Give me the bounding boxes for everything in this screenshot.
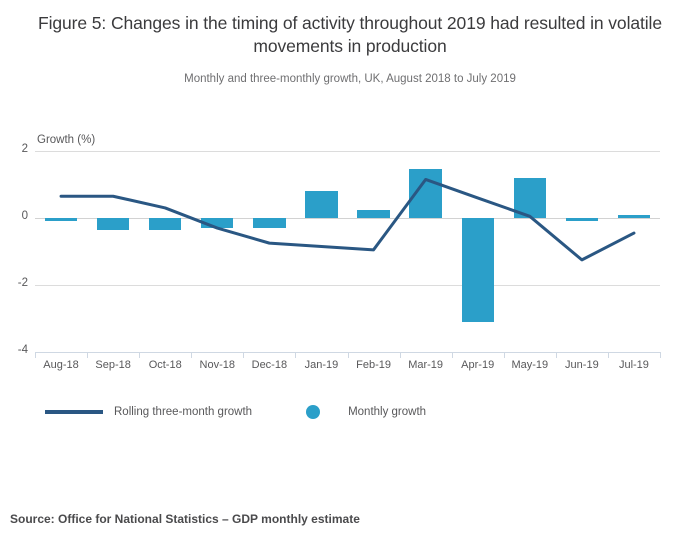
x-axis-tick-mark (608, 352, 609, 358)
legend-item-rolling-three-month-growth[interactable]: Rolling three-month growth (45, 406, 252, 418)
x-axis-tick-mark (243, 352, 244, 358)
y-axis-tick-label: 0 (2, 210, 28, 222)
y-axis-tick-label: -4 (2, 344, 28, 356)
x-axis-tick-mark (348, 352, 349, 358)
plot-area (35, 151, 660, 352)
y-axis-tick-label: 2 (2, 143, 28, 155)
x-axis-tick-label: Apr-19 (452, 359, 504, 371)
source-note: Source: Office for National Statistics –… (10, 512, 360, 526)
y-axis-tick-label: -2 (2, 277, 28, 289)
x-axis-tick-label: Jan-19 (295, 359, 347, 371)
x-axis-tick-mark (504, 352, 505, 358)
x-axis-tick-mark (556, 352, 557, 358)
x-axis-tick-label: Oct-18 (139, 359, 191, 371)
x-axis-tick-label: Nov-18 (191, 359, 243, 371)
legend-line-icon (45, 410, 103, 414)
figure-subtitle: Monthly and three-monthly growth, UK, Au… (28, 71, 672, 87)
x-axis-tick-label: May-19 (504, 359, 556, 371)
x-axis-tick-label: Jun-19 (556, 359, 608, 371)
x-axis-tick-label: Mar-19 (400, 359, 452, 371)
figure-header: Figure 5: Changes in the timing of activ… (0, 0, 700, 87)
x-axis-tick-label: Aug-18 (35, 359, 87, 371)
x-axis: Aug-18Sep-18Oct-18Nov-18Dec-18Jan-19Feb-… (35, 352, 660, 382)
legend-dot-icon (306, 405, 320, 419)
legend-item-monthly-growth[interactable]: Monthly growth (306, 405, 426, 419)
x-axis-tick-mark (87, 352, 88, 358)
x-axis-tick-mark (660, 352, 661, 358)
line-series-rolling-three-month-growth (35, 151, 660, 352)
x-axis-tick-mark (35, 352, 36, 358)
legend-label: Monthly growth (348, 406, 426, 418)
x-axis-tick-label: Feb-19 (348, 359, 400, 371)
legend-label: Rolling three-month growth (114, 406, 252, 418)
x-axis-tick-label: Dec-18 (243, 359, 295, 371)
chart-legend: Rolling three-month growth Monthly growt… (45, 405, 480, 419)
x-axis-tick-mark (452, 352, 453, 358)
x-axis-tick-mark (295, 352, 296, 358)
x-axis-tick-label: Sep-18 (87, 359, 139, 371)
x-axis-tick-mark (139, 352, 140, 358)
chart-container: Growth (%) 20-2-4 Aug-18Sep-18Oct-18Nov-… (0, 120, 700, 390)
x-axis-tick-mark (400, 352, 401, 358)
x-axis-tick-label: Jul-19 (608, 359, 660, 371)
page-title: Figure 5: Changes in the timing of activ… (35, 12, 665, 58)
x-axis-tick-mark (191, 352, 192, 358)
y-axis-title: Growth (%) (37, 134, 95, 146)
